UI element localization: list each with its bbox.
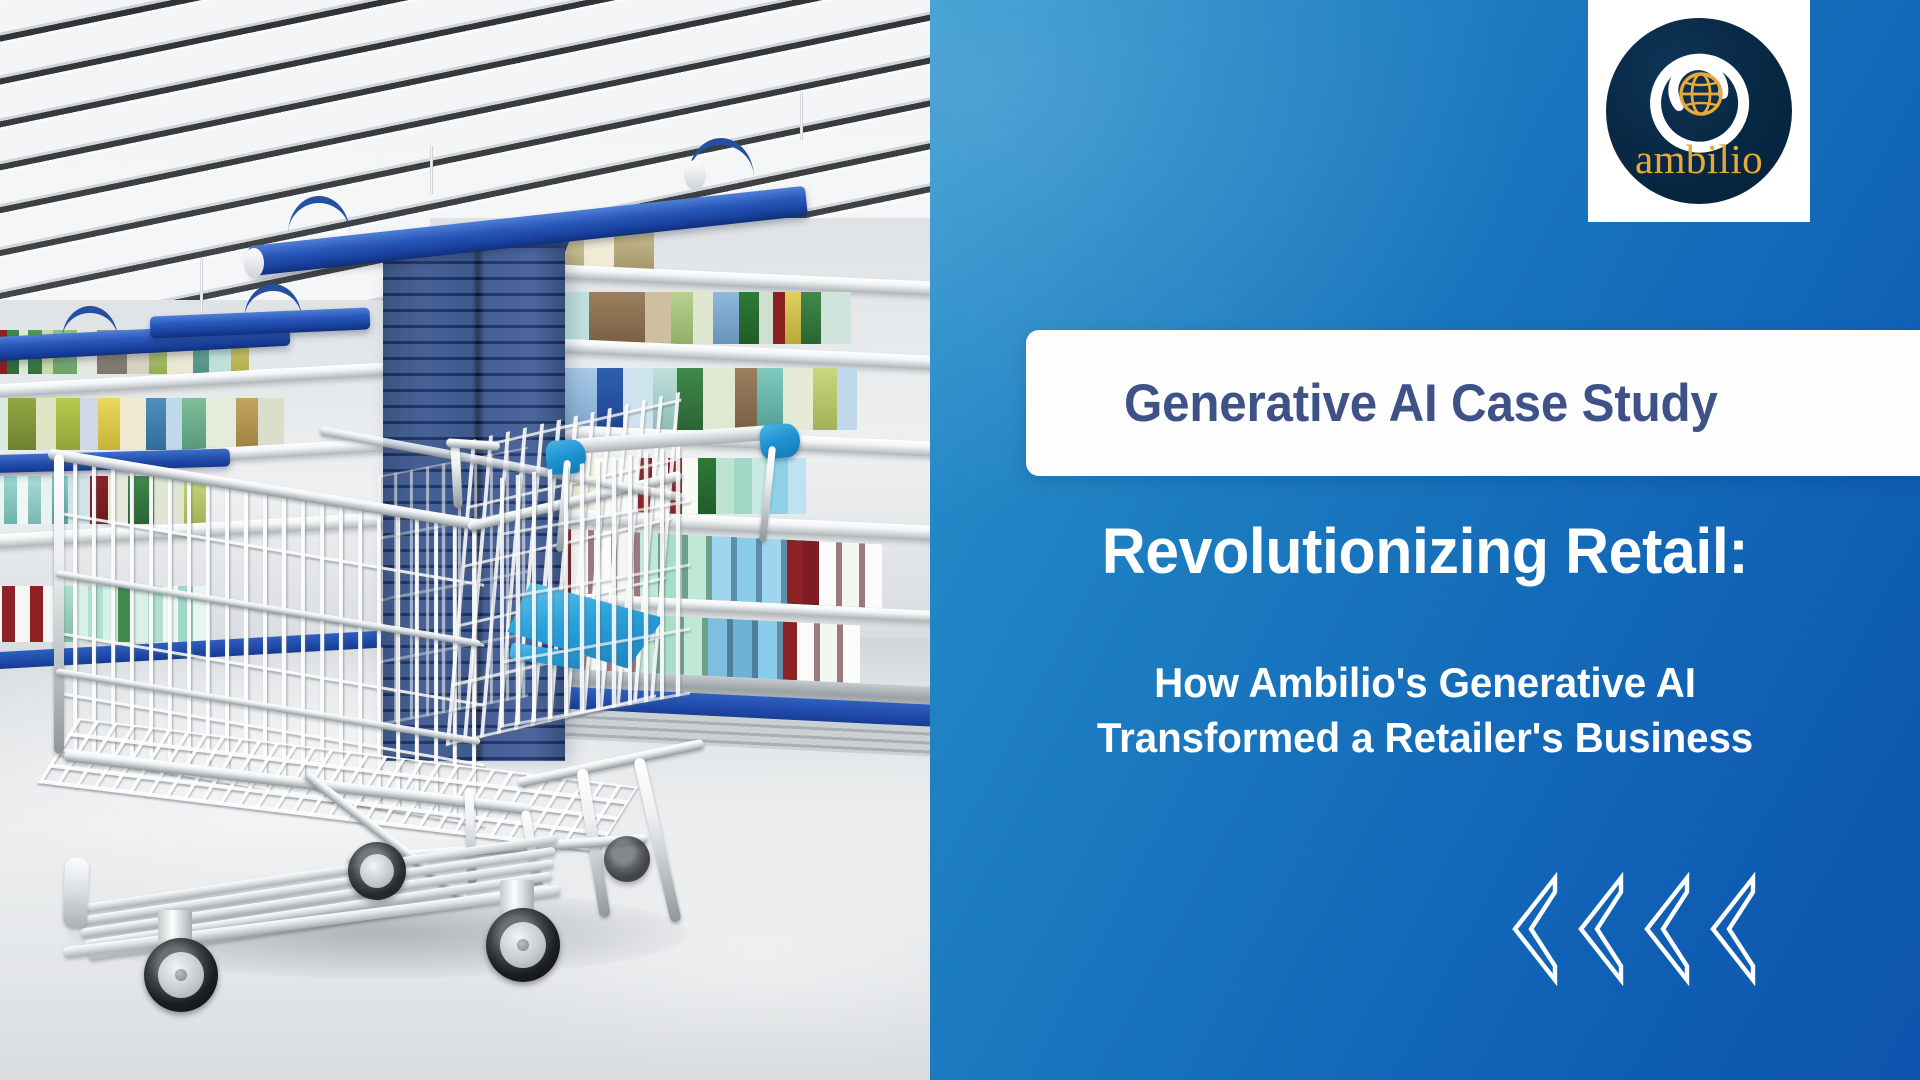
chevron-left-icon <box>1571 872 1629 986</box>
chevron-left-icon <box>1637 872 1695 986</box>
rail-drop-wire <box>800 92 803 140</box>
basket-bottom-rim-rear <box>517 739 705 788</box>
chevron-left-icon <box>1703 872 1761 986</box>
seat-mesh-overlay <box>500 444 690 728</box>
caster-wheel-rear <box>604 836 650 882</box>
caster-hub-rear <box>360 854 394 888</box>
eyebrow-title-text: Generative AI Case Study <box>1124 373 1718 434</box>
subtitle-line-1: How Ambilio's Generative AI <box>988 656 1862 711</box>
spiral-globe-icon <box>1606 22 1792 154</box>
logo-circle: ambilio <box>1606 18 1792 204</box>
handle-support-wire <box>759 446 776 542</box>
eyebrow-title-card: Generative AI Case Study <box>1026 330 1920 476</box>
page-subtitle: How Ambilio's Generative AI Transformed … <box>988 656 1862 765</box>
rail-end-cap <box>244 248 264 278</box>
handle-grip-right <box>759 423 801 460</box>
rail-end-cap <box>684 160 706 190</box>
chevron-decoration <box>1505 872 1765 986</box>
supermarket-photo <box>0 0 930 1080</box>
chevron-left-icon <box>1505 872 1563 986</box>
logo-wordmark: ambilio <box>1606 139 1792 180</box>
basket-front-edge <box>54 454 64 754</box>
rail-drop-wire <box>200 258 203 314</box>
shopping-cart <box>48 418 828 978</box>
caster-axle-pin <box>175 969 187 981</box>
poster-canvas: ambilio Generative AI Case Study Revolut… <box>0 0 1920 1080</box>
page-title: Revolutionizing Retail: <box>955 518 1896 586</box>
content-panel: ambilio Generative AI Case Study Revolut… <box>930 0 1920 1080</box>
lower-rack-front-rail <box>63 858 89 929</box>
rail-drop-wire <box>430 146 433 194</box>
subtitle-line-2: Transformed a Retailer's Business <box>988 711 1862 766</box>
logo-box[interactable]: ambilio <box>1588 0 1810 222</box>
caster-axle-pin <box>517 939 529 951</box>
